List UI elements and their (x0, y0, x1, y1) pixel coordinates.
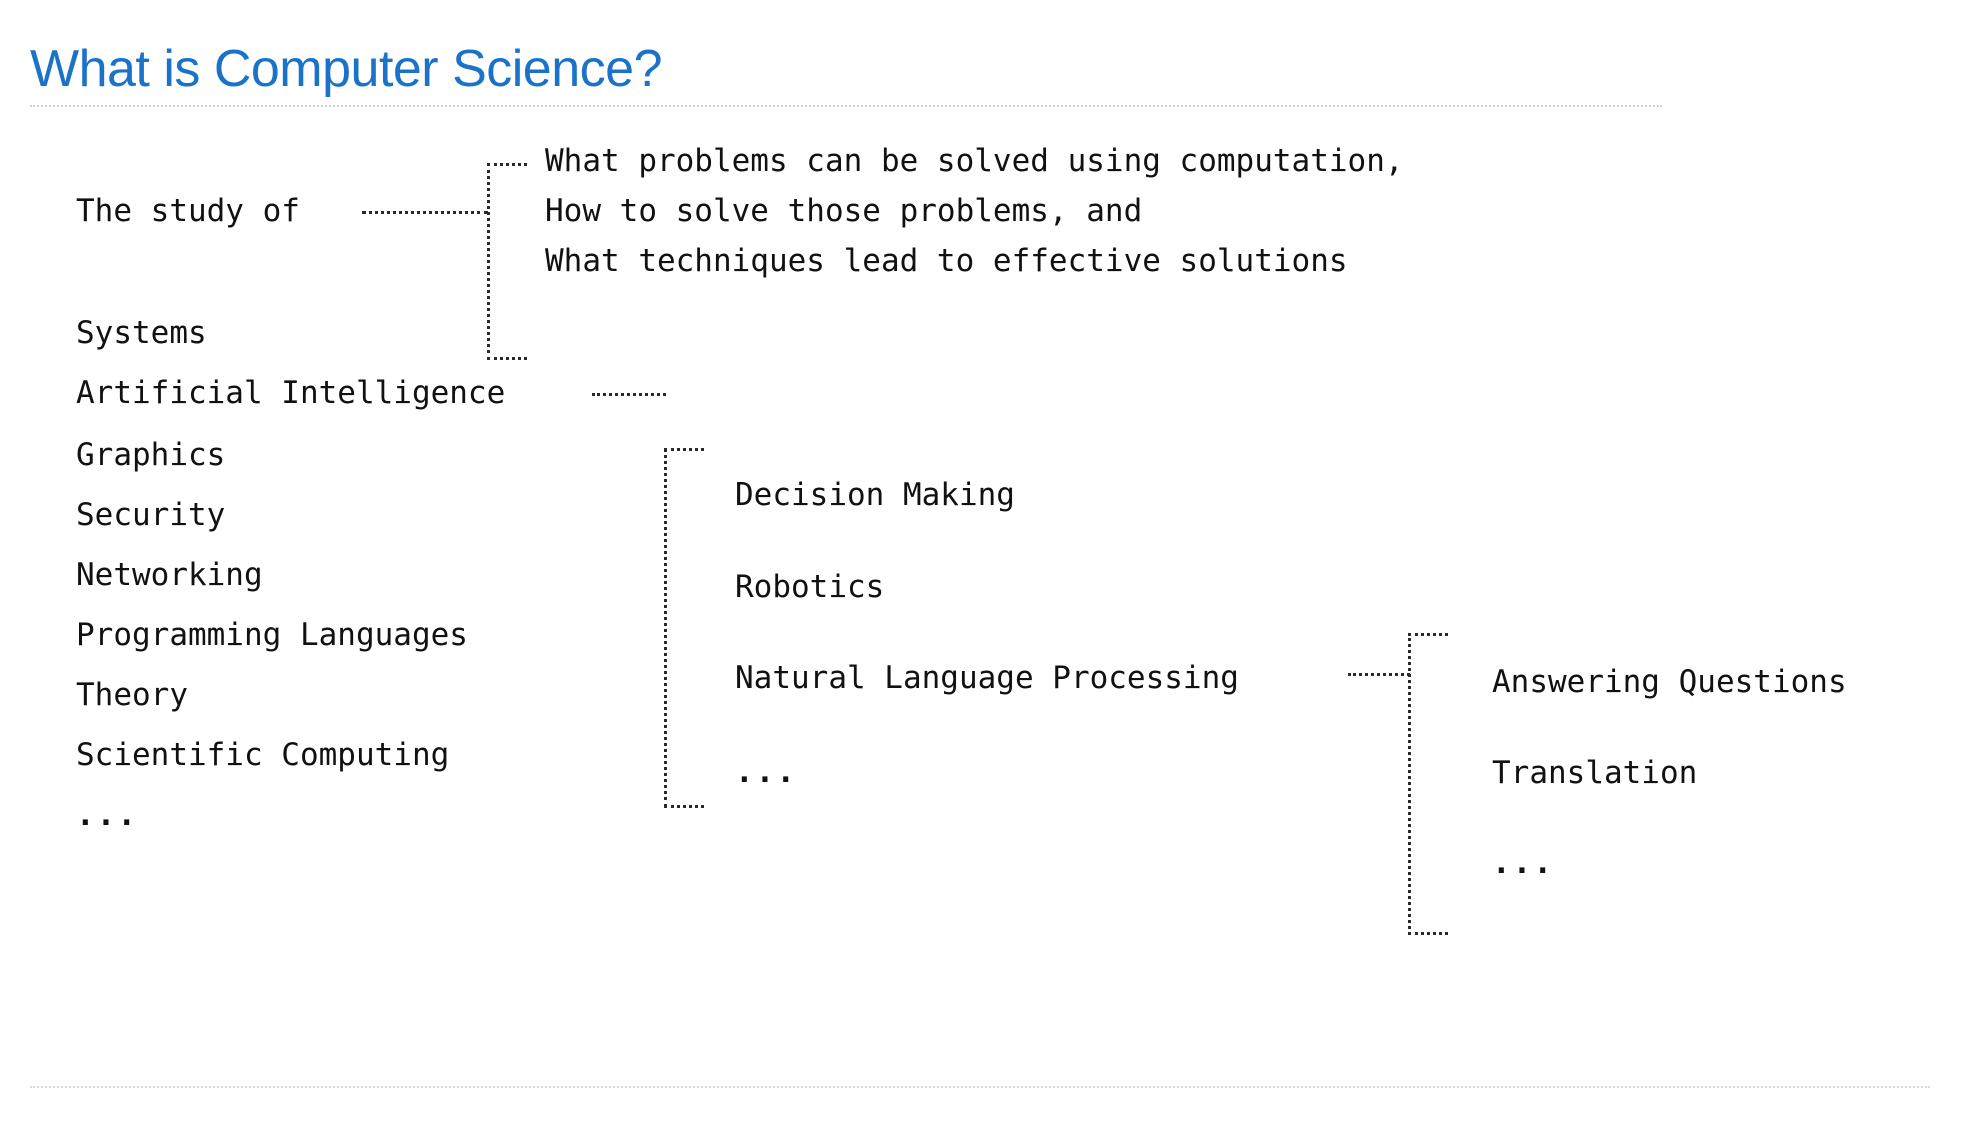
list-item-discipline: Theory (76, 680, 188, 711)
list-item-ai-subtopic-ellipsis: ... (735, 757, 797, 788)
list-item-discipline: Networking (76, 560, 263, 591)
list-item-ai-subtopic: Natural Language Processing (735, 663, 1239, 694)
brace-tick-top (487, 163, 527, 166)
brace-tick-bottom (664, 805, 704, 808)
definition-statement: What techniques lead to effective soluti… (545, 246, 1348, 277)
brace-tick-top (664, 448, 704, 451)
connector-study-of (362, 211, 488, 214)
definition-statement: How to solve those problems, and (545, 196, 1142, 227)
list-item-discipline-ellipsis: ... (76, 800, 138, 831)
list-item-discipline: Graphics (76, 440, 225, 471)
brace-spine (487, 163, 490, 360)
definition-statement: What problems can be solved using comput… (545, 146, 1404, 177)
list-item-discipline: Programming Languages (76, 620, 468, 651)
page-title: What is Computer Science? (30, 38, 1660, 100)
brace-tick-bottom (487, 357, 527, 360)
title-block: What is Computer Science? (30, 38, 1660, 107)
list-item-ai-subtopic: Decision Making (735, 480, 1015, 511)
list-item-nlp-subtopic: Answering Questions (1492, 667, 1847, 698)
list-item-discipline: Security (76, 500, 225, 531)
list-item-nlp-subtopic: Translation (1492, 758, 1697, 789)
title-divider (30, 105, 1662, 107)
brace-spine (664, 448, 667, 808)
connector-natural-language-processing (1348, 673, 1410, 676)
brace-spine (1408, 633, 1411, 935)
brace-tick-bottom (1408, 932, 1448, 935)
list-item-discipline: Artificial Intelligence (76, 378, 505, 409)
list-item-nlp-subtopic-ellipsis: ... (1492, 848, 1554, 879)
connector-artificial-intelligence (592, 393, 666, 396)
brace-tick-top (1408, 633, 1448, 636)
slide-canvas: What is Computer Science? The study of W… (0, 0, 1962, 1128)
list-item-ai-subtopic: Robotics (735, 572, 884, 603)
list-item-discipline: Scientific Computing (76, 740, 449, 771)
footer-divider (30, 1086, 1930, 1088)
list-item-discipline: Systems (76, 318, 207, 349)
study-of-label: The study of (76, 196, 300, 227)
